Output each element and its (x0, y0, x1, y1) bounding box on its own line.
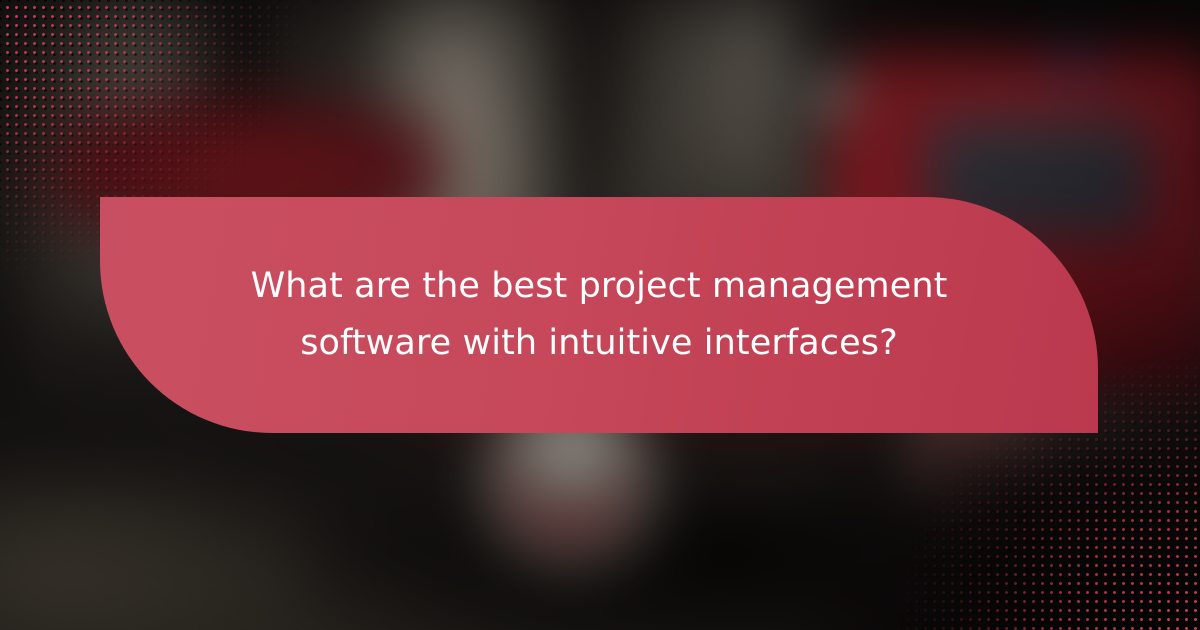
question-card: What are the best project management sof… (0, 0, 1200, 630)
question-text: What are the best project management sof… (249, 258, 949, 371)
question-banner: What are the best project management sof… (100, 197, 1098, 433)
